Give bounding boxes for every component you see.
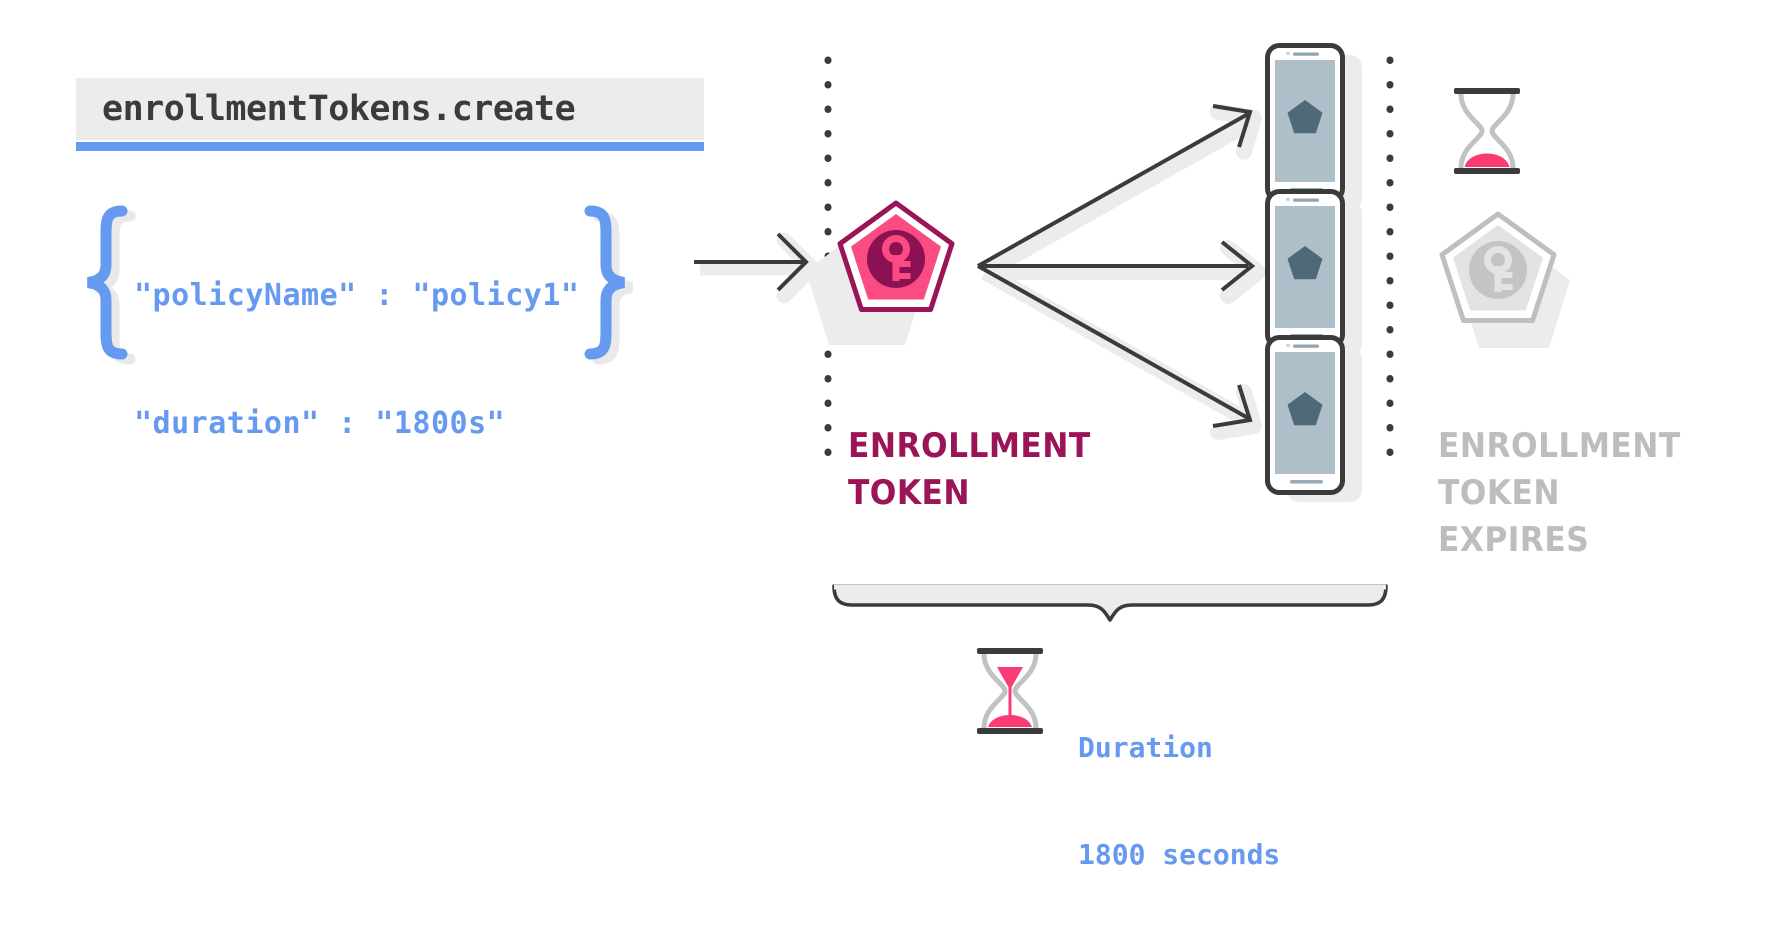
json-line-duration: "duration" : "1800s" [134, 409, 579, 439]
enrollment-token-expires-label: ENROLLMENT TOKEN EXPIRES [1438, 423, 1714, 564]
enrollment-token-expires-label-line2: TOKEN [1438, 470, 1714, 517]
enrollment-token-label-line1: ENROLLMENT [848, 423, 1096, 470]
enrollment-token-expired-icon [1442, 214, 1570, 348]
enrollment-token-expires-label-line1: ENROLLMENT [1438, 423, 1714, 470]
json-line-policy-name: "policyName" : "policy1" [134, 281, 579, 311]
duration-caption-line1: Duration [1078, 730, 1280, 766]
json-close-brace [576, 205, 636, 360]
duration-caption: Duration 1800 seconds [1078, 658, 1280, 945]
duration-caption-line2: 1800 seconds [1078, 837, 1280, 873]
diagram-canvas: enrollmentTokens.create "policyName" : "… [0, 0, 1789, 795]
hourglass-running-icon [977, 648, 1043, 734]
token-distribution-arrows [978, 106, 1258, 432]
api-method-underline [76, 142, 704, 151]
enrollment-token-expires-label-line3: EXPIRES [1438, 517, 1714, 564]
enrollment-token-icon [806, 203, 952, 345]
device-3 [1268, 338, 1363, 503]
api-method-chip: enrollmentTokens.create [76, 78, 704, 140]
request-json-block: "policyName" : "policy1" "duration" : "1… [76, 205, 716, 360]
enrollment-token-label: ENROLLMENT TOKEN [848, 423, 1096, 517]
json-open-brace [76, 205, 136, 360]
hourglass-finished-icon [1454, 88, 1520, 174]
enrollment-token-label-line2: TOKEN [848, 470, 1096, 517]
duration-span-brace [834, 586, 1386, 620]
device-2 [1268, 192, 1363, 357]
device-1 [1268, 46, 1363, 211]
api-method-label: enrollmentTokens.create [76, 89, 575, 129]
request-json-lines: "policyName" : "policy1" "duration" : "1… [134, 221, 579, 537]
